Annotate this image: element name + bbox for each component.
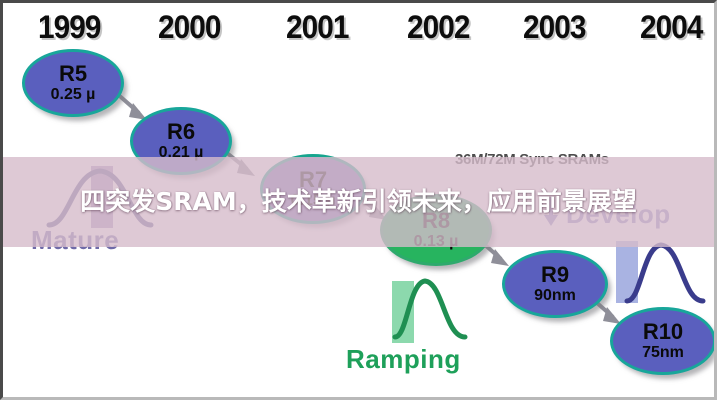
year-label-2004: 2004 — [640, 9, 702, 46]
year-label-1999: 1999 — [38, 9, 100, 46]
phase-label-ramping: Ramping — [346, 344, 461, 375]
year-axis: 1999 2000 2001 2002 2003 2004 — [3, 9, 714, 55]
node-r9[interactable]: R9 90nm — [503, 251, 607, 317]
node-r10-size: 75nm — [642, 345, 684, 361]
node-r5[interactable]: R5 0.25 µ — [23, 50, 123, 116]
node-r5-size: 0.25 µ — [51, 87, 96, 103]
node-r9-size: 90nm — [534, 288, 576, 304]
year-label-2000: 2000 — [158, 9, 220, 46]
roadmap-image: 1999 2000 2001 2002 2003 2004 Mature Ram… — [0, 0, 717, 400]
node-r10[interactable]: R10 75nm — [611, 308, 714, 374]
caption-title: 四突发SRAM，技术革新引领未来，应用前景展望 — [39, 183, 679, 221]
year-label-2003: 2003 — [523, 9, 585, 46]
node-r10-name: R10 — [643, 321, 683, 343]
node-r6-name: R6 — [167, 121, 195, 143]
ramping-curve — [391, 275, 471, 345]
develop-curve — [623, 239, 709, 309]
node-r9-name: R9 — [541, 264, 569, 286]
year-label-2001: 2001 — [286, 9, 348, 46]
node-r5-name: R5 — [59, 63, 87, 85]
caption-overlay-band: 四突发SRAM，技术革新引领未来，应用前景展望 — [3, 157, 714, 247]
year-label-2002: 2002 — [407, 9, 469, 46]
